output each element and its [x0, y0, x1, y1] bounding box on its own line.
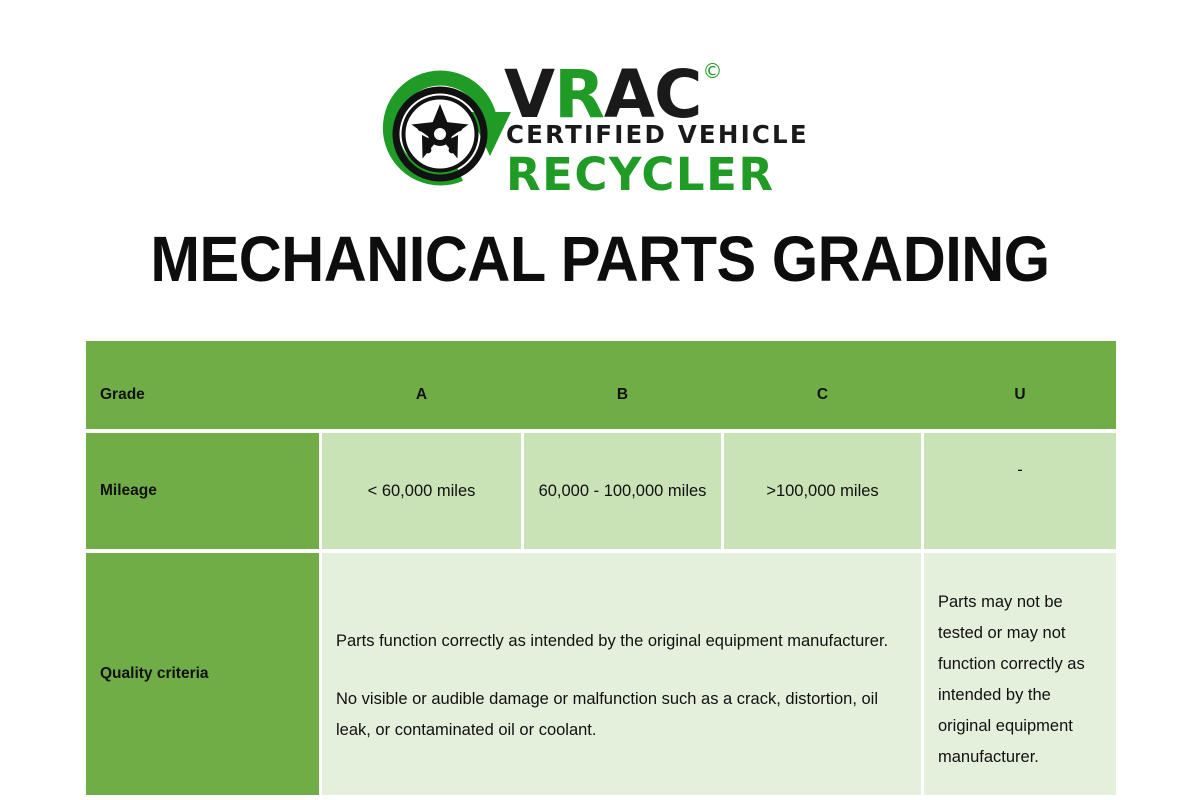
row-label-quality-criteria: Quality criteria	[86, 553, 319, 795]
quality-paragraph-2: No visible or audible damage or malfunct…	[336, 684, 899, 746]
logo-tagline: CERTIFIED VEHICLE	[506, 122, 809, 148]
cell-mileage-c: >100,000 miles	[724, 433, 921, 549]
column-header-b: B	[524, 341, 721, 429]
cell-quality-abc: Parts function correctly as intended by …	[322, 553, 921, 795]
logo-subline: RECYCLER	[506, 151, 775, 199]
table-header-row: Grade A B C U	[86, 341, 1116, 429]
cell-quality-u: Parts may not be tested or may not funct…	[924, 553, 1116, 795]
vrac-logo: VRAC© CERTIFIED VEHICLE RECYCLER	[374, 56, 844, 204]
column-header-c: C	[724, 341, 921, 429]
quality-paragraph-1: Parts function correctly as intended by …	[336, 626, 899, 657]
table-row: Quality criteria Parts function correctl…	[86, 553, 1116, 795]
column-header-a: A	[322, 341, 521, 429]
brand-name: VRAC©	[504, 54, 720, 128]
column-header-grade: Grade	[86, 341, 319, 429]
cell-mileage-a: < 60,000 miles	[322, 433, 521, 549]
logo-wordmark: VRAC© CERTIFIED VEHICLE RECYCLER	[504, 56, 849, 204]
row-label-mileage: Mileage	[86, 433, 319, 549]
recycle-wheel-icon	[374, 60, 514, 200]
page-title: MECHANICAL PARTS GRADING	[42, 222, 1158, 296]
cell-mileage-b: 60,000 - 100,000 miles	[524, 433, 721, 549]
cell-mileage-u: -	[924, 433, 1116, 549]
page-root: VRAC© CERTIFIED VEHICLE RECYCLER MECHANI…	[0, 0, 1200, 800]
table-row: Mileage < 60,000 miles 60,000 - 100,000 …	[86, 433, 1116, 549]
column-header-u: U	[924, 341, 1116, 429]
copyright-icon: ©	[702, 59, 721, 83]
mechanical-parts-grading-table: Grade A B C U Mileage < 60,000 miles	[86, 341, 1116, 795]
